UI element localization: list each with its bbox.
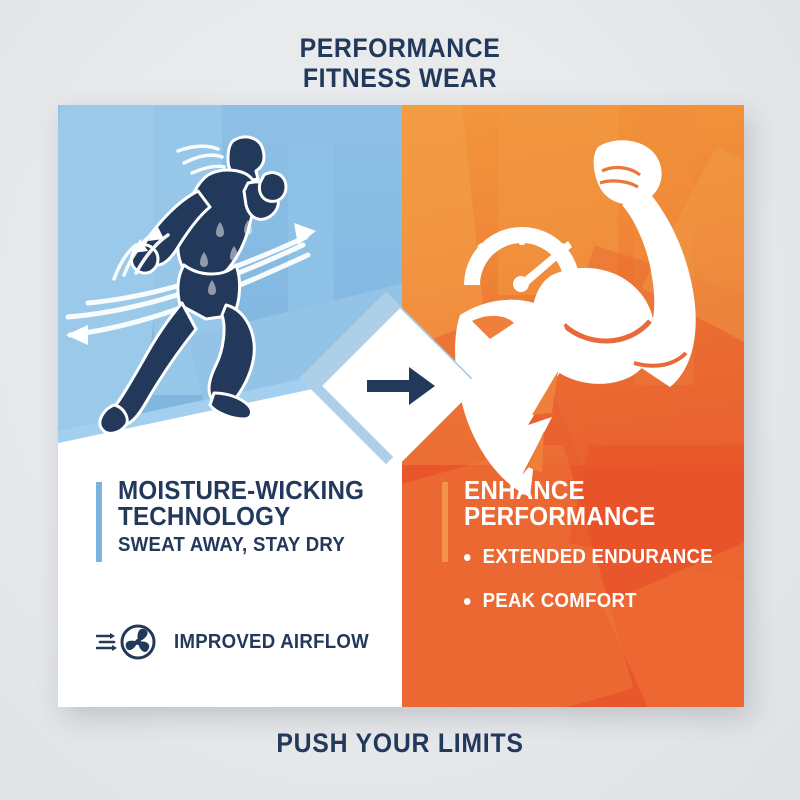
infographic-card: MOISTURE-WICKING TECHNOLOGY SWEAT AWAY, … (58, 105, 744, 707)
left-panel-subtitle: SWEAT AWAY, STAY DRY (118, 534, 367, 556)
left-panel-title: MOISTURE-WICKING TECHNOLOGY (118, 477, 367, 529)
airflow-feature-row: IMPROVED AIRFLOW (96, 622, 384, 662)
right-accent-bar (442, 482, 448, 562)
poster-canvas: PERFORMANCE FITNESS WEAR (0, 0, 800, 800)
list-item: EXTENDED ENDURANCE (464, 547, 713, 567)
right-panel-title: ENHANCE PERFORMANCE (464, 477, 713, 529)
left-accent-bar (96, 482, 102, 562)
arrow-right-icon (365, 363, 437, 409)
left-text-block: MOISTURE-WICKING TECHNOLOGY SWEAT AWAY, … (96, 477, 386, 556)
fan-airflow-icon (96, 622, 160, 662)
benefit-list: EXTENDED ENDURANCE PEAK COMFORT (464, 547, 732, 611)
airflow-feature-label: IMPROVED AIRFLOW (174, 631, 369, 654)
right-text-block: ENHANCE PERFORMANCE EXTENDED ENDURANCE P… (442, 477, 732, 635)
page-title: PERFORMANCE FITNESS WEAR (32, 33, 768, 93)
footer-tagline: PUSH YOUR LIMITS (32, 728, 768, 759)
center-transition-badge (325, 317, 475, 467)
list-item: PEAK COMFORT (464, 591, 713, 611)
